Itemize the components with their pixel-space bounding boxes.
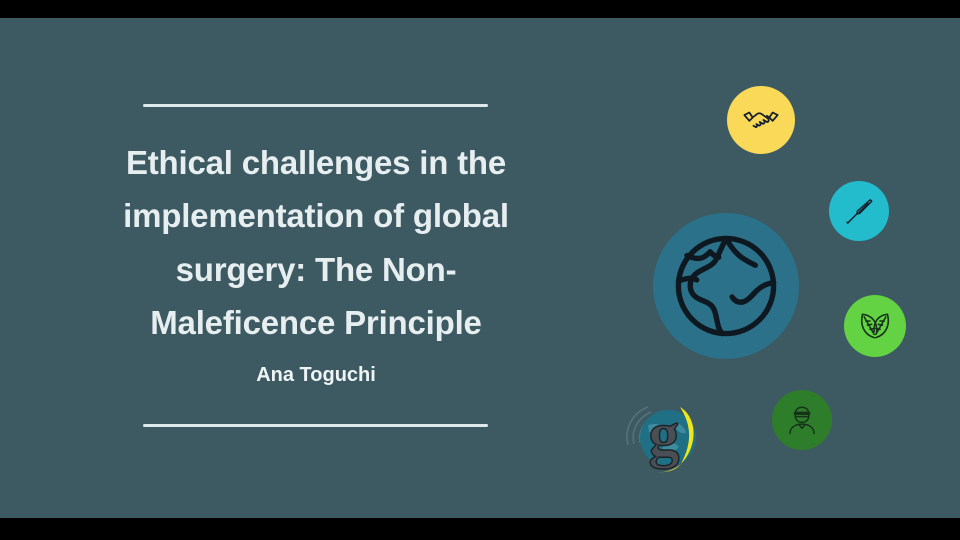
author-name: Ana Toguchi bbox=[78, 364, 554, 387]
g-globe-logo: g bbox=[618, 393, 704, 475]
doctor-badge bbox=[772, 390, 832, 450]
title-line: Ethical challenges in the bbox=[78, 136, 554, 189]
title-line: Maleficence Principle bbox=[78, 296, 554, 349]
scalpel-badge bbox=[829, 181, 889, 241]
divider-rule-top bbox=[143, 104, 488, 107]
slide-root: Ethical challenges in the implementation… bbox=[0, 0, 960, 540]
title-line: implementation of global bbox=[78, 189, 554, 242]
svg-text:g: g bbox=[649, 401, 680, 469]
slide-canvas: Ethical challenges in the implementation… bbox=[0, 18, 960, 518]
letterbox-bar-bottom bbox=[0, 518, 960, 540]
doctor-icon bbox=[784, 402, 820, 438]
globe-badge bbox=[653, 213, 799, 359]
scalpel-icon bbox=[841, 193, 877, 229]
g-globe-logo-icon: g bbox=[618, 393, 704, 475]
letterbox-bar-top bbox=[0, 0, 960, 18]
page-title: Ethical challenges in the implementation… bbox=[78, 136, 554, 350]
divider-rule-bottom bbox=[143, 424, 488, 427]
handshake-badge bbox=[727, 86, 795, 154]
graphics-cluster: g bbox=[596, 18, 960, 518]
title-block: Ethical challenges in the implementation… bbox=[78, 18, 554, 518]
leaves-icon bbox=[855, 306, 895, 346]
leaves-badge bbox=[844, 295, 906, 357]
title-line: surgery: The Non- bbox=[78, 243, 554, 296]
handshake-icon bbox=[741, 100, 781, 140]
globe-icon bbox=[665, 225, 787, 347]
